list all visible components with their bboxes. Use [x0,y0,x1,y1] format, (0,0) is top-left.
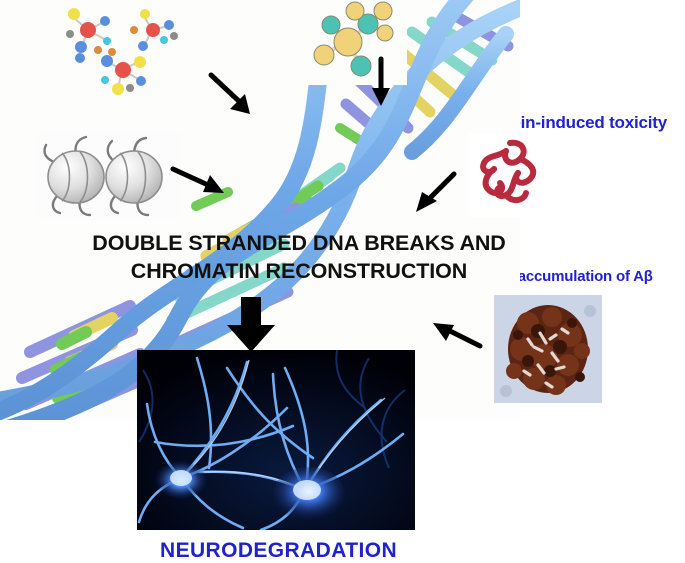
arrow-from-amyloid-beta [430,320,484,357]
arrow-to-neurodegeneration [223,297,279,358]
label-neurodegradation: NEURODEGRADATION [160,539,397,563]
arrow-from-tdp43 [206,70,258,127]
arrow-from-fus [368,56,394,113]
figure-canvas: Abnormal forms of TDP-43 SOD1 Dysfunctio… [0,0,685,563]
neuron-network-image [137,350,415,530]
histone-nucleosome-image [36,133,181,218]
arrow-from-alpha-synuclein [412,170,458,221]
arrow-from-histone [170,163,228,202]
amyloid-beta-plaque-image [494,295,602,403]
central-heading-dna-breaks: DOUBLE STRANDED DNA BREAKS AND CHROMATIN… [34,229,564,286]
alpha-synuclein-fibril-image [468,133,556,217]
tdp43-aggregate-image [48,0,188,100]
